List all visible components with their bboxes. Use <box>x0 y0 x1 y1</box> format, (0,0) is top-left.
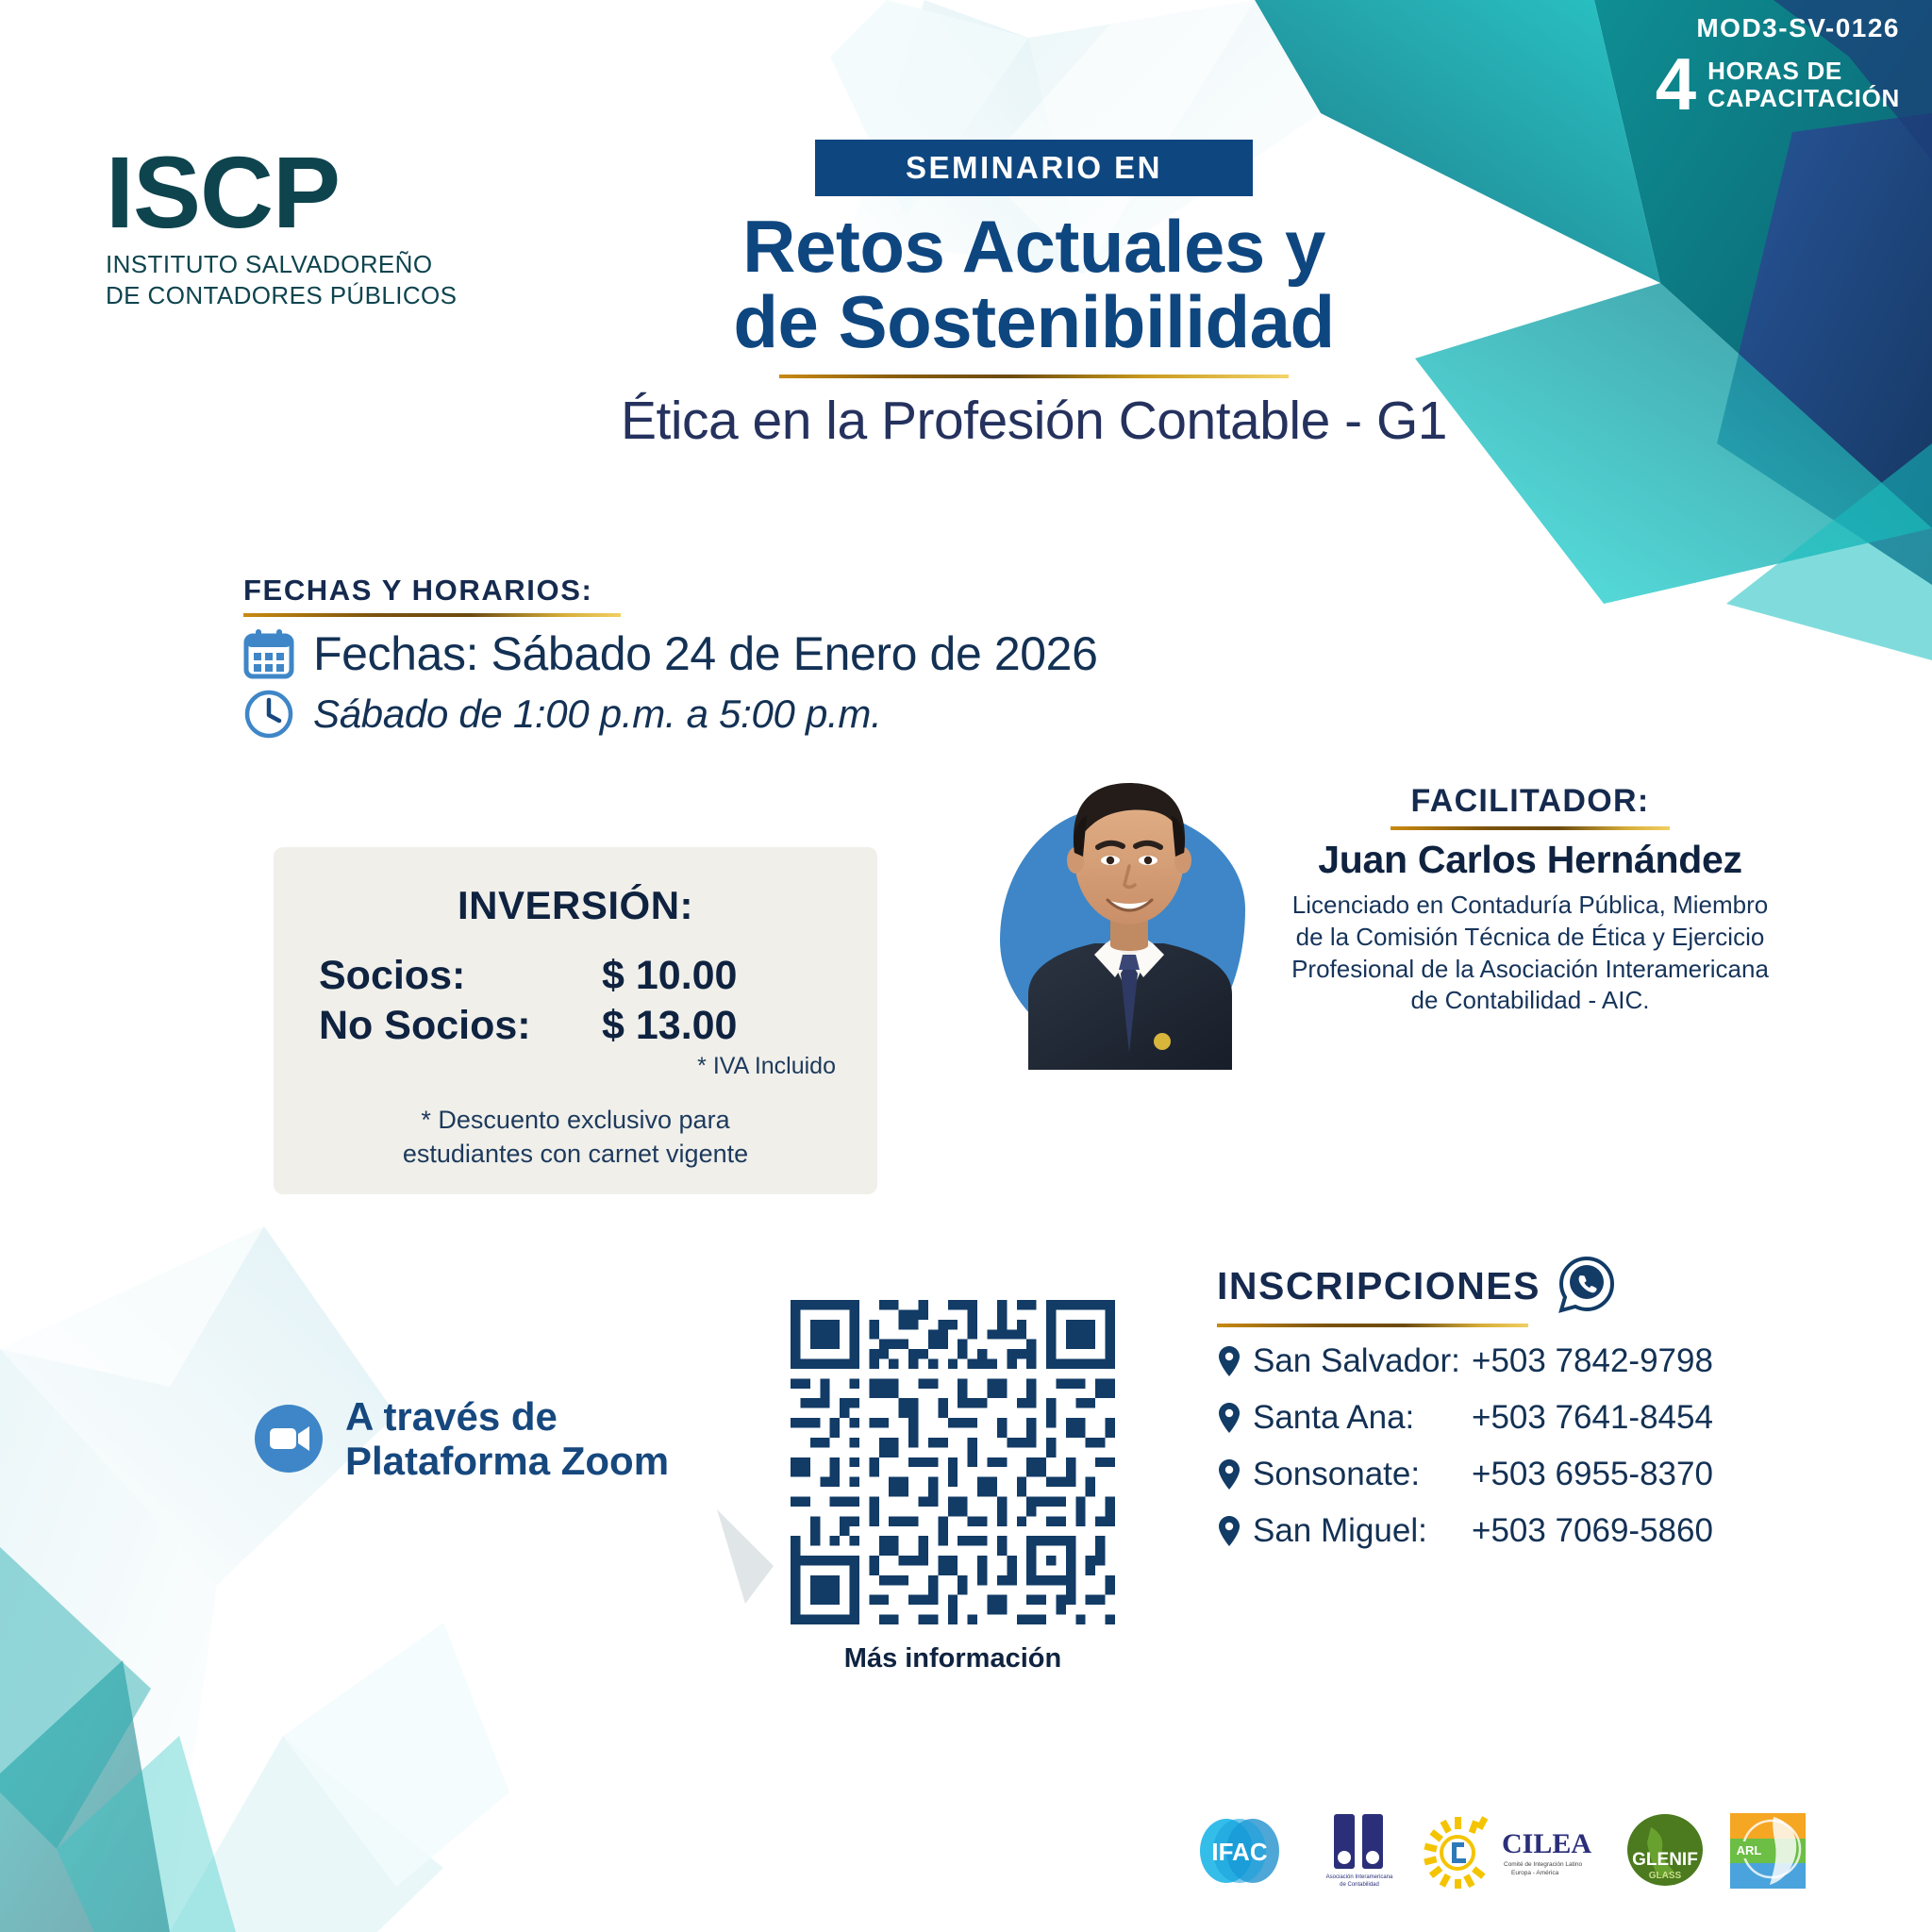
logo-glenif: GLENIF GLASS <box>1624 1812 1706 1894</box>
price-row-socios: Socios: $ 10.00 <box>319 953 832 999</box>
svg-text:de Contabilidad: de Contabilidad <box>1340 1882 1379 1888</box>
clock-icon <box>243 689 294 740</box>
inscriptions-block: INSCRIPCIONES San Salvador: +503 7842-97… <box>1217 1255 1821 1569</box>
inscriptions-heading: INSCRIPCIONES <box>1217 1264 1541 1308</box>
discount-line1: * Descuento exclusivo para <box>306 1103 845 1137</box>
logo-arl: ARL <box>1730 1813 1806 1893</box>
iscp-logo: ISCP INSTITUTO SALVADOREÑO DE CONTADORES… <box>106 142 457 312</box>
bio-line4: de Contabilidad - AIC. <box>1272 985 1789 1017</box>
contact-row-san-salvador[interactable]: San Salvador: +503 7842-9798 <box>1217 1342 1821 1380</box>
price-label-socios: Socios: <box>319 953 602 999</box>
contact-city-4: San Miguel: <box>1253 1512 1472 1550</box>
seminar-title-line2: de Sostenibilidad <box>562 285 1506 360</box>
hours-number: 4 <box>1656 55 1696 115</box>
footer-partner-logos: IFAC Asociación Interamericana de Contab… <box>1170 1796 1830 1909</box>
contact-row-sonsonate[interactable]: Sonsonate: +503 6955-8370 <box>1217 1456 1821 1493</box>
calendar-icon <box>243 628 294 679</box>
facilitator-name: Juan Carlos Hernández <box>1272 838 1789 882</box>
inscriptions-header: INSCRIPCIONES <box>1217 1255 1821 1318</box>
facilitator-info: FACILITADOR: Juan Carlos Hernández Licen… <box>1272 783 1789 1017</box>
zoom-camera-icon <box>253 1403 325 1474</box>
contact-row-san-miguel[interactable]: San Miguel: +503 7069-5860 <box>1217 1512 1821 1550</box>
svg-text:Comité de Integración Latino: Comité de Integración Latino <box>1504 1861 1582 1868</box>
qr-block: Más información <box>791 1300 1115 1674</box>
contact-city-1: San Salvador: <box>1253 1342 1472 1380</box>
facilitator-photo <box>981 734 1264 1074</box>
price-rows: Socios: $ 10.00 No Socios: $ 13.00 <box>306 953 845 1049</box>
date-text: Fechas: Sábado 24 de Enero de 2026 <box>313 626 1098 681</box>
investment-box: INVERSIÓN: Socios: $ 10.00 No Socios: $ … <box>274 847 877 1194</box>
hours-label-line2: CAPACITACIÓN <box>1707 85 1900 112</box>
seminar-title-line1: Retos Actuales y <box>562 209 1506 285</box>
qr-caption: Más información <box>791 1643 1115 1674</box>
dates-heading: FECHAS Y HORARIOS: <box>243 574 1098 608</box>
logo-name-line2: DE CONTADORES PÚBLICOS <box>106 280 457 311</box>
course-code: MOD3-SV-0126 <box>1696 13 1900 43</box>
zoom-line1: A través de <box>345 1394 669 1439</box>
logo-aic: Asociación Interamericana de Contabilida… <box>1323 1810 1396 1896</box>
svg-text:Europa - América: Europa - América <box>1511 1870 1559 1876</box>
contact-city-2: Santa Ana: <box>1253 1399 1472 1437</box>
contact-phone-3[interactable]: +503 6955-8370 <box>1472 1456 1713 1493</box>
contact-city-3: Sonsonate: <box>1253 1456 1472 1493</box>
svg-text:ARL: ARL <box>1737 1843 1762 1857</box>
seminar-title: Retos Actuales y de Sostenibilidad <box>562 209 1506 359</box>
contact-row-santa-ana[interactable]: Santa Ana: +503 7641-8454 <box>1217 1399 1821 1437</box>
zoom-line2: Plataforma Zoom <box>345 1439 669 1483</box>
inscriptions-divider <box>1217 1324 1528 1327</box>
facilitator-portrait <box>1021 741 1238 1070</box>
svg-text:IFAC: IFAC <box>1211 1838 1267 1866</box>
iva-note: * IVA Incluido <box>306 1053 845 1080</box>
hours-label-line1: HORAS DE <box>1707 58 1900 85</box>
contact-phone-1[interactable]: +503 7842-9798 <box>1472 1342 1713 1380</box>
qr-code[interactable] <box>791 1300 1115 1624</box>
bio-line2: de la Comisión Técnica de Ética y Ejerci… <box>1272 922 1789 954</box>
svg-text:GLENIF: GLENIF <box>1632 1850 1698 1870</box>
zoom-platform-text: A través de Plataforma Zoom <box>345 1394 669 1483</box>
contact-phone-2[interactable]: +503 7641-8454 <box>1472 1399 1713 1437</box>
seminar-subtitle: Ética en la Profesión Contable - G1 <box>562 390 1506 452</box>
location-pin-icon <box>1217 1402 1241 1434</box>
whatsapp-icon[interactable] <box>1557 1255 1616 1318</box>
price-value-socios: $ 10.00 <box>602 953 737 999</box>
dates-divider <box>243 613 621 617</box>
title-block: SEMINARIO EN Retos Actuales y de Sosteni… <box>562 140 1506 452</box>
date-row: Fechas: Sábado 24 de Enero de 2026 <box>243 626 1098 681</box>
contact-phone-4[interactable]: +503 7069-5860 <box>1472 1512 1713 1550</box>
facilitator-bio: Licenciado en Contaduría Pública, Miembr… <box>1272 890 1789 1017</box>
seminar-tag: SEMINARIO EN <box>815 140 1253 196</box>
bio-line1: Licenciado en Contaduría Pública, Miembr… <box>1272 890 1789 922</box>
logo-cilea: CILEA Comité de Integración Latino Europ… <box>1421 1813 1600 1893</box>
svg-text:CILEA: CILEA <box>1502 1828 1591 1859</box>
price-value-no-socios: $ 13.00 <box>602 1003 737 1049</box>
svg-text:GLASS: GLASS <box>1649 1871 1682 1881</box>
bio-line3: Profesional de la Asociación Interameric… <box>1272 954 1789 986</box>
discount-line2: estudiantes con carnet vigente <box>306 1137 845 1171</box>
facilitator-heading: FACILITADOR: <box>1272 783 1789 820</box>
price-row-no-socios: No Socios: $ 13.00 <box>319 1003 832 1049</box>
location-pin-icon <box>1217 1515 1241 1547</box>
hours-badge: 4 HORAS DE CAPACITACIÓN <box>1656 55 1900 115</box>
logo-ifac: IFAC <box>1194 1817 1298 1890</box>
location-pin-icon <box>1217 1345 1241 1377</box>
time-text: Sábado de 1:00 p.m. a 5:00 p.m. <box>313 691 881 737</box>
price-label-no-socios: No Socios: <box>319 1003 602 1049</box>
logo-institution-name: INSTITUTO SALVADOREÑO DE CONTADORES PÚBL… <box>106 249 457 312</box>
investment-title: INVERSIÓN: <box>306 883 845 928</box>
logo-mark: ISCP <box>106 142 457 243</box>
dates-block: FECHAS Y HORARIOS: Fechas: Sábado 24 de … <box>243 574 1098 740</box>
location-pin-icon <box>1217 1458 1241 1491</box>
svg-text:Asociación Interamericana: Asociación Interamericana <box>1326 1874 1393 1880</box>
hours-label: HORAS DE CAPACITACIÓN <box>1707 58 1900 112</box>
facilitator-divider <box>1391 826 1670 830</box>
title-divider <box>779 375 1289 378</box>
logo-name-line1: INSTITUTO SALVADOREÑO <box>106 249 457 280</box>
discount-note: * Descuento exclusivo para estudiantes c… <box>306 1103 845 1172</box>
time-row: Sábado de 1:00 p.m. a 5:00 p.m. <box>243 689 1098 740</box>
zoom-platform-block: A través de Plataforma Zoom <box>253 1394 669 1483</box>
